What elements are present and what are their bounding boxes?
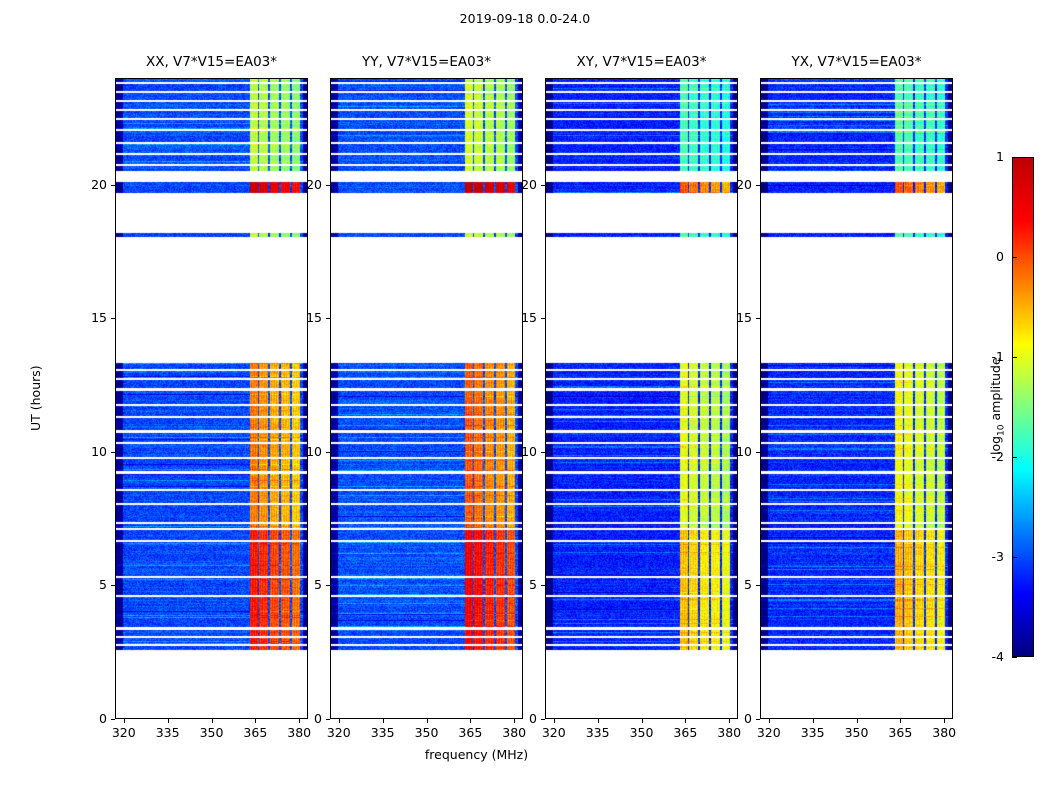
figure-canvas: 2019-09-18 0.0-24.0 XX, V7*V15=EA03*3203… [0, 0, 1050, 800]
x-tick-label: 380 [924, 725, 964, 740]
x-tick-label: 350 [407, 725, 447, 740]
x-tick [642, 719, 643, 723]
x-tick-label: 350 [622, 725, 662, 740]
y-tick-label: 5 [284, 577, 322, 592]
x-tick-label: 335 [148, 725, 188, 740]
colorbar-tick [1012, 557, 1017, 558]
y-tick-label: 5 [69, 577, 107, 592]
y-tick [326, 318, 330, 319]
colorbar-gradient [1013, 158, 1033, 656]
colorbar-tick [1012, 657, 1017, 658]
x-tick [769, 719, 770, 723]
y-tick-label: 15 [714, 310, 752, 325]
y-tick-label: 5 [499, 577, 537, 592]
colorbar-tick [1012, 157, 1017, 158]
y-tick [756, 452, 760, 453]
spectrogram-image [546, 79, 737, 718]
x-tick-label: 365 [235, 725, 275, 740]
spectrogram-yy[interactable] [330, 78, 523, 719]
x-tick-label: 320 [749, 725, 789, 740]
y-tick-label: 0 [284, 711, 322, 726]
x-tick [124, 719, 125, 723]
x-tick [944, 719, 945, 723]
colorbar-tick [1012, 457, 1017, 458]
x-tick [900, 719, 901, 723]
y-tick-label: 0 [69, 711, 107, 726]
y-tick [326, 719, 330, 720]
y-tick-label: 10 [284, 444, 322, 459]
y-axis-title: UT (hours) [28, 365, 43, 431]
y-tick [111, 185, 115, 186]
colorbar-tick-label: -4 [968, 649, 1004, 664]
spectrogram-image [761, 79, 952, 718]
y-tick-label: 20 [69, 177, 107, 192]
panel-title-xy: XY, V7*V15=EA03* [545, 54, 738, 70]
x-tick-label: 380 [279, 725, 319, 740]
figure-suptitle: 2019-09-18 0.0-24.0 [0, 11, 1050, 26]
x-tick-label: 335 [793, 725, 833, 740]
x-tick-label: 365 [665, 725, 705, 740]
y-tick [111, 585, 115, 586]
colorbar-tick [1012, 357, 1017, 358]
x-axis-title: frequency (MHz) [0, 747, 953, 762]
spectrogram-image [116, 79, 307, 718]
y-tick [111, 719, 115, 720]
colorbar-title: log10 amplitude [988, 357, 1007, 455]
y-tick-label: 5 [714, 577, 752, 592]
colorbar-tick [1012, 257, 1017, 258]
x-tick [427, 719, 428, 723]
x-tick [598, 719, 599, 723]
colorbar-tick-label: -3 [968, 549, 1004, 564]
y-tick [111, 318, 115, 319]
x-tick-label: 380 [709, 725, 749, 740]
colorbar[interactable] [1012, 157, 1034, 657]
x-tick-label: 350 [192, 725, 232, 740]
y-tick [541, 719, 545, 720]
x-tick-label: 350 [837, 725, 877, 740]
spectrogram-image [331, 79, 522, 718]
y-tick [326, 185, 330, 186]
y-tick [541, 452, 545, 453]
x-tick-label: 320 [319, 725, 359, 740]
y-tick-label: 10 [499, 444, 537, 459]
y-tick-label: 20 [499, 177, 537, 192]
x-tick-label: 380 [494, 725, 534, 740]
spectrogram-xx[interactable] [115, 78, 308, 719]
y-tick [756, 318, 760, 319]
y-tick [541, 585, 545, 586]
y-tick-label: 15 [284, 310, 322, 325]
y-tick [541, 185, 545, 186]
x-tick [383, 719, 384, 723]
x-tick-label: 320 [104, 725, 144, 740]
x-tick [470, 719, 471, 723]
panel-title-yx: YX, V7*V15=EA03* [760, 54, 953, 70]
x-tick-label: 335 [363, 725, 403, 740]
panel-title-yy: YY, V7*V15=EA03* [330, 54, 523, 70]
x-tick [168, 719, 169, 723]
y-tick [756, 719, 760, 720]
colorbar-tick-label: 0 [968, 249, 1004, 264]
y-tick [326, 585, 330, 586]
x-tick [857, 719, 858, 723]
y-tick-label: 20 [714, 177, 752, 192]
y-tick-label: 15 [69, 310, 107, 325]
spectrogram-yx[interactable] [760, 78, 953, 719]
x-tick [685, 719, 686, 723]
y-tick [326, 452, 330, 453]
spectrogram-xy[interactable] [545, 78, 738, 719]
y-tick [756, 185, 760, 186]
y-tick-label: 20 [284, 177, 322, 192]
x-tick [212, 719, 213, 723]
x-tick-label: 365 [450, 725, 490, 740]
x-tick [813, 719, 814, 723]
x-tick-label: 335 [578, 725, 618, 740]
y-tick-label: 0 [714, 711, 752, 726]
x-tick-label: 365 [880, 725, 920, 740]
x-tick-label: 320 [534, 725, 574, 740]
x-tick [554, 719, 555, 723]
y-tick-label: 10 [714, 444, 752, 459]
panel-title-xx: XX, V7*V15=EA03* [115, 54, 308, 70]
y-tick [111, 452, 115, 453]
y-tick [541, 318, 545, 319]
x-tick [255, 719, 256, 723]
y-tick-label: 10 [69, 444, 107, 459]
colorbar-tick-label: 1 [968, 149, 1004, 164]
y-tick-label: 0 [499, 711, 537, 726]
y-tick-label: 15 [499, 310, 537, 325]
x-tick [339, 719, 340, 723]
y-tick [756, 585, 760, 586]
